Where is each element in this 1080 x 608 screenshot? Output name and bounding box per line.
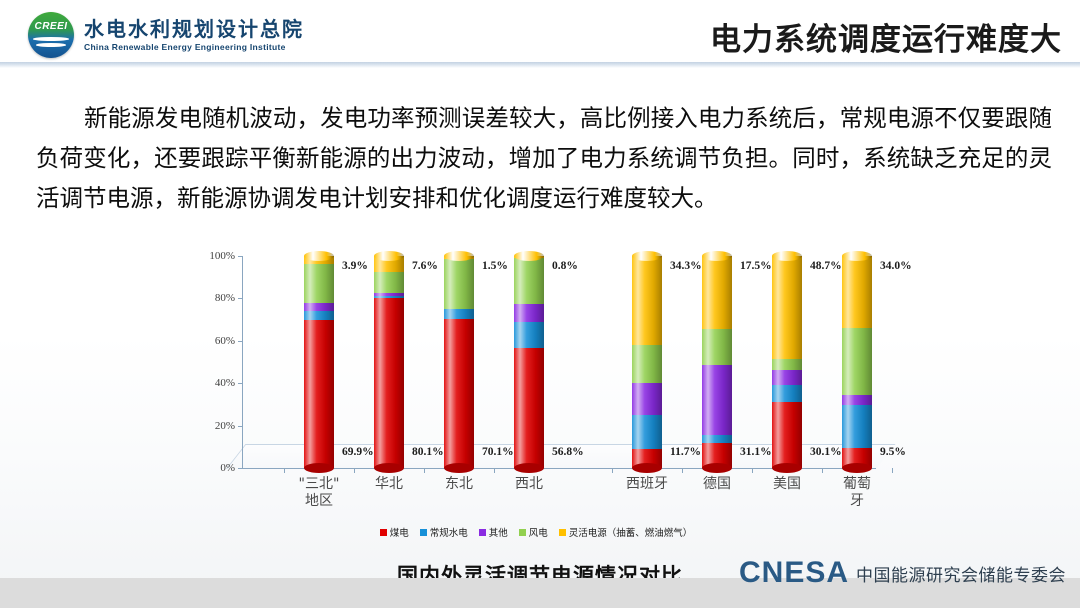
bar-bottom-cap bbox=[772, 463, 802, 473]
bar-segment bbox=[842, 405, 872, 447]
bar-bottom-cap bbox=[304, 463, 334, 473]
legend-label: 灵活电源（抽蓄、燃油燃气） bbox=[569, 525, 693, 539]
slide-canvas: CREEI 水电水利规划设计总院 China Renewable Energy … bbox=[0, 0, 1080, 608]
bar-segment bbox=[842, 328, 872, 395]
bar-top-value-label: 17.5% bbox=[740, 260, 772, 272]
bar-bottom-value-label: 11.7% bbox=[670, 446, 701, 458]
cnesa-name-cn: 中国能源研究会储能专委会 bbox=[856, 561, 1066, 586]
y-axis-tick-mark bbox=[238, 468, 243, 469]
bar-segment bbox=[304, 311, 334, 319]
wave-shape-2 bbox=[36, 43, 66, 47]
legend-label: 煤电 bbox=[390, 525, 409, 539]
stacked-bar-chart: 0%20%40%60%80%100%3.9%69.9%7.6%80.1%1.5%… bbox=[186, 248, 886, 548]
x-axis-tick-mark bbox=[494, 468, 495, 473]
chart-plot-area: 0%20%40%60%80%100%3.9%69.9%7.6%80.1%1.5%… bbox=[242, 256, 876, 468]
bar-top-value-label: 3.9% bbox=[342, 260, 368, 272]
legend-item: 煤电 bbox=[380, 525, 409, 539]
bar-segment bbox=[444, 319, 474, 468]
bar-segment bbox=[842, 395, 872, 406]
bar-segment bbox=[702, 365, 732, 435]
x-axis-category-label: 葡萄牙 bbox=[843, 476, 872, 510]
bar-top-cap bbox=[772, 251, 802, 261]
bar-segment bbox=[632, 345, 662, 383]
wave-shape-1 bbox=[33, 37, 69, 41]
org-name-cn: 水电水利规划设计总院 bbox=[84, 18, 304, 41]
bar-bottom-value-label: 69.9% bbox=[342, 446, 374, 458]
bar-bottom-cap bbox=[374, 463, 404, 473]
org-logo: CREEI 水电水利规划设计总院 China Renewable Energy … bbox=[28, 12, 304, 58]
bar-top-value-label: 48.7% bbox=[810, 260, 842, 272]
bar-segment bbox=[514, 348, 544, 468]
bar-bottom-cap bbox=[514, 463, 544, 473]
legend-swatch bbox=[380, 529, 387, 536]
bar-top-value-label: 34.0% bbox=[880, 260, 912, 272]
bar-top-value-label: 34.3% bbox=[670, 260, 702, 272]
legend-label: 常规水电 bbox=[430, 525, 468, 539]
bar-top-cap bbox=[514, 251, 544, 261]
legend-item: 风电 bbox=[519, 525, 548, 539]
bar-segment bbox=[632, 415, 662, 449]
x-axis-category-label: 西北 bbox=[515, 476, 543, 493]
bar-segment bbox=[304, 264, 334, 303]
bar-segment bbox=[772, 256, 802, 359]
bar-top-cap bbox=[444, 251, 474, 261]
legend-item: 灵活电源（抽蓄、燃油燃气） bbox=[559, 525, 693, 539]
y-axis-tick-label: 100% bbox=[209, 250, 235, 262]
bar-bottom-value-label: 30.1% bbox=[810, 446, 842, 458]
x-axis-tick-mark bbox=[424, 468, 425, 473]
bar-top-value-label: 1.5% bbox=[482, 260, 508, 272]
cnesa-acronym: CNESA bbox=[739, 556, 849, 590]
bar-bottom-cap bbox=[632, 463, 662, 473]
bar-segment bbox=[632, 383, 662, 415]
x-axis-tick-mark bbox=[752, 468, 753, 473]
bar-bottom-cap bbox=[842, 463, 872, 473]
bar-segment bbox=[444, 259, 474, 309]
bar-segment bbox=[772, 370, 802, 385]
legend-item: 常规水电 bbox=[420, 525, 468, 539]
legend-swatch bbox=[519, 529, 526, 536]
header-divider-gradient bbox=[0, 62, 1080, 68]
bar-top-cap bbox=[632, 251, 662, 261]
x-axis-category-label: "三北" 地区 bbox=[299, 476, 340, 510]
bar-bottom-value-label: 56.8% bbox=[552, 446, 584, 458]
page-title: 电力系统调度运行难度大 bbox=[710, 14, 1062, 59]
org-name-block: 水电水利规划设计总院 China Renewable Energy Engine… bbox=[84, 18, 304, 52]
y-axis-tick-label: 80% bbox=[215, 292, 235, 304]
y-axis-tick-mark bbox=[238, 341, 243, 342]
bar-bottom-value-label: 80.1% bbox=[412, 446, 444, 458]
bar-top-cap bbox=[702, 251, 732, 261]
chart-bar bbox=[374, 256, 404, 468]
x-axis-tick-mark bbox=[354, 468, 355, 473]
y-axis-tick-mark bbox=[238, 426, 243, 427]
y-axis-tick-label: 60% bbox=[215, 335, 235, 347]
bar-segment bbox=[702, 435, 732, 443]
x-axis-tick-mark bbox=[822, 468, 823, 473]
creei-logo-icon: CREEI bbox=[28, 12, 74, 58]
bar-segment bbox=[374, 298, 404, 468]
chart-bar bbox=[514, 256, 544, 468]
bar-segment bbox=[304, 320, 334, 468]
y-axis-tick-label: 20% bbox=[215, 420, 235, 432]
chart-bar bbox=[842, 256, 872, 468]
bar-segment bbox=[632, 256, 662, 345]
y-axis-tick-label: 0% bbox=[220, 462, 235, 474]
bar-segment bbox=[772, 402, 802, 468]
legend-label: 其他 bbox=[489, 525, 508, 539]
bar-segment bbox=[444, 309, 474, 319]
bar-segment bbox=[304, 303, 334, 311]
bar-top-value-label: 7.6% bbox=[412, 260, 438, 272]
logo-acronym: CREEI bbox=[28, 21, 74, 32]
cnesa-logo: CNESA 中国能源研究会储能专委会 bbox=[739, 556, 1066, 590]
x-axis-tick-mark bbox=[284, 468, 285, 473]
legend-swatch bbox=[420, 529, 427, 536]
chart-legend: 煤电常规水电其他风电灵活电源（抽蓄、燃油燃气） bbox=[186, 525, 886, 539]
chart-bar bbox=[702, 256, 732, 468]
chart-bar bbox=[632, 256, 662, 468]
legend-swatch bbox=[479, 529, 486, 536]
x-axis-category-label: 美国 bbox=[773, 476, 801, 493]
slide-header: CREEI 水电水利规划设计总院 China Renewable Energy … bbox=[0, 0, 1080, 62]
legend-label: 风电 bbox=[529, 525, 548, 539]
bar-segment bbox=[514, 304, 544, 322]
x-axis-tick-mark bbox=[612, 468, 613, 473]
bar-segment bbox=[514, 258, 544, 305]
bar-bottom-value-label: 9.5% bbox=[880, 446, 906, 458]
bar-top-cap bbox=[842, 251, 872, 261]
chart-bar bbox=[304, 256, 334, 468]
x-axis-category-label: 东北 bbox=[445, 476, 473, 493]
bar-bottom-value-label: 31.1% bbox=[740, 446, 772, 458]
bar-bottom-cap bbox=[702, 463, 732, 473]
bar-segment bbox=[514, 322, 544, 347]
body-paragraph: 新能源发电随机波动，发电功率预测误差较大，高比例接入电力系统后，常规电源不仅要跟… bbox=[36, 98, 1052, 218]
bar-segment bbox=[772, 385, 802, 402]
y-axis-tick-label: 40% bbox=[215, 377, 235, 389]
x-axis-tick-mark bbox=[682, 468, 683, 473]
x-axis-category-label: 华北 bbox=[375, 476, 403, 493]
bar-top-cap bbox=[374, 251, 404, 261]
bar-bottom-cap bbox=[444, 463, 474, 473]
x-axis-tick-mark bbox=[892, 468, 893, 473]
chart-bar bbox=[772, 256, 802, 468]
bar-segment bbox=[374, 272, 404, 293]
chart-bar bbox=[444, 256, 474, 468]
x-axis-category-label: 西班牙 bbox=[626, 476, 668, 493]
y-axis-tick-mark bbox=[238, 298, 243, 299]
y-axis-tick-mark bbox=[238, 256, 243, 257]
bar-top-value-label: 0.8% bbox=[552, 260, 578, 272]
x-axis-category-label: 德国 bbox=[703, 476, 731, 493]
legend-item: 其他 bbox=[479, 525, 508, 539]
bar-segment bbox=[842, 256, 872, 328]
bar-segment bbox=[772, 359, 802, 370]
bar-segment bbox=[702, 256, 732, 329]
bar-segment bbox=[702, 329, 732, 365]
bar-top-cap bbox=[304, 251, 334, 261]
y-axis-tick-mark bbox=[238, 383, 243, 384]
org-name-en: China Renewable Energy Engineering Insti… bbox=[84, 42, 304, 52]
bar-bottom-value-label: 70.1% bbox=[482, 446, 514, 458]
legend-swatch bbox=[559, 529, 566, 536]
